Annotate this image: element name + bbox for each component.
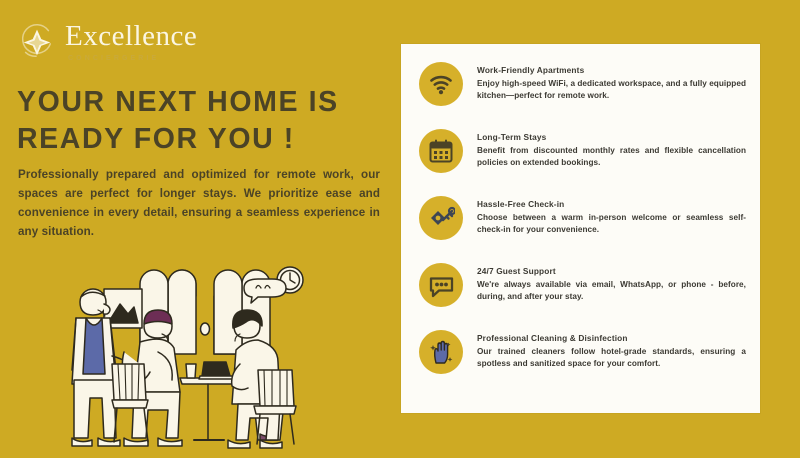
left-column: Excellence CONCIERGERIE YOUR NEXT HOME I… <box>0 0 400 458</box>
feature-title: Work-Friendly Apartments <box>477 65 746 75</box>
feature-title: Professional Cleaning & Disinfection <box>477 333 746 343</box>
brand-lockup: Excellence CONCIERGERIE <box>18 22 197 62</box>
feature-item[interactable]: Hassle-Free Check-in Choose between a wa… <box>401 196 760 240</box>
feature-title: Long-Term Stays <box>477 132 746 142</box>
wifi-icon <box>419 62 463 106</box>
feature-text: Work-Friendly Apartments Enjoy high-spee… <box>477 62 746 103</box>
cleaning-hand-icon <box>419 330 463 374</box>
feature-item[interactable]: 24/7 Guest Support We're always availabl… <box>401 263 760 307</box>
feature-item[interactable]: Long-Term Stays Benefit from discounted … <box>401 129 760 173</box>
feature-text: Long-Term Stays Benefit from discounted … <box>477 129 746 170</box>
brand-tagline: CONCIERGERIE <box>68 55 197 62</box>
features-panel: Work-Friendly Apartments Enjoy high-spee… <box>401 44 760 413</box>
intro-paragraph: Professionally prepared and optimized fo… <box>18 166 380 242</box>
sparkle-emblem-icon <box>18 23 56 61</box>
headline-line-2: READY FOR YOU ! <box>17 121 392 158</box>
feature-text: 24/7 Guest Support We're always availabl… <box>477 263 746 304</box>
feature-description: Benefit from discounted monthly rates an… <box>477 145 746 170</box>
headline: YOUR NEXT HOME IS READY FOR YOU ! <box>17 84 392 158</box>
chat-bubble-icon <box>419 263 463 307</box>
coworking-cafe-illustration <box>62 252 392 458</box>
calendar-icon <box>419 129 463 173</box>
feature-description: Our trained cleaners follow hotel-grade … <box>477 346 746 371</box>
keys-icon <box>419 196 463 240</box>
headline-line-1: YOUR NEXT HOME IS <box>17 84 392 121</box>
feature-item[interactable]: Work-Friendly Apartments Enjoy high-spee… <box>401 62 760 106</box>
feature-title: 24/7 Guest Support <box>477 266 746 276</box>
feature-description: We're always available via email, WhatsA… <box>477 279 746 304</box>
feature-text: Hassle-Free Check-in Choose between a wa… <box>477 196 746 237</box>
feature-text: Professional Cleaning & Disinfection Our… <box>477 330 746 371</box>
promo-poster: Excellence CONCIERGERIE YOUR NEXT HOME I… <box>0 0 800 458</box>
feature-description: Enjoy high-speed WiFi, a dedicated works… <box>477 78 746 103</box>
feature-item[interactable]: Professional Cleaning & Disinfection Our… <box>401 330 760 374</box>
brand-text: Excellence CONCIERGERIE <box>65 22 197 62</box>
brand-name: Excellence <box>65 22 197 51</box>
feature-description: Choose between a warm in-person welcome … <box>477 212 746 237</box>
feature-title: Hassle-Free Check-in <box>477 199 746 209</box>
